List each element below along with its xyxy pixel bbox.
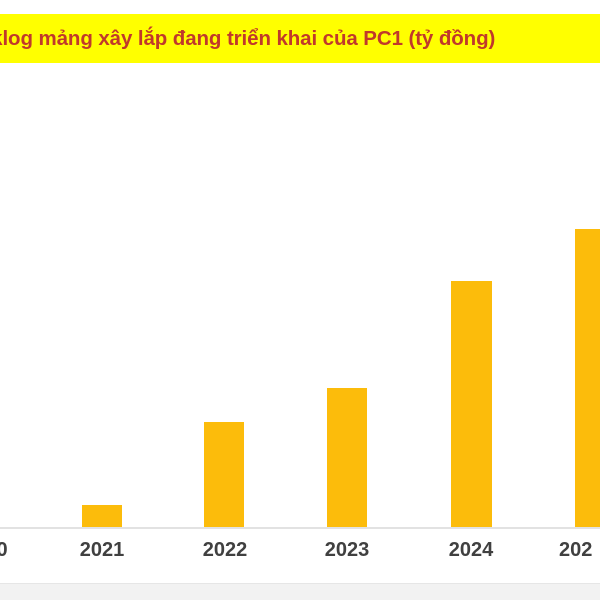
bar-2021[interactable]: [82, 505, 122, 527]
bar-2022[interactable]: [204, 422, 244, 527]
bar-2025[interactable]: [575, 229, 600, 527]
bars-layer: [0, 63, 600, 583]
x-axis-line: [0, 527, 600, 529]
x-tick-label-2020: 0: [0, 537, 42, 564]
x-tick-label-2024: 2024: [431, 537, 511, 564]
x-tick-label-2025: 202: [559, 537, 600, 564]
x-tick-label-2021: 2021: [62, 537, 142, 564]
chart-screenshot: Giá trị backlog mảng xây lắp đang triển …: [0, 0, 600, 600]
x-tick-label-2023: 2023: [307, 537, 387, 564]
bar-2023[interactable]: [327, 388, 367, 527]
bar-2024[interactable]: [451, 281, 492, 527]
x-axis-tick-labels: 0 2021 2022 2023 2024 202: [0, 537, 600, 583]
chart-title-highlight-band: Giá trị backlog mảng xây lắp đang triển …: [0, 14, 600, 63]
chart-title: Giá trị backlog mảng xây lắp đang triển …: [0, 28, 495, 49]
x-tick-label-2022: 2022: [185, 537, 265, 564]
bottom-strip: [0, 583, 600, 600]
plot-area: 0 2021 2022 2023 2024 202: [0, 63, 600, 583]
